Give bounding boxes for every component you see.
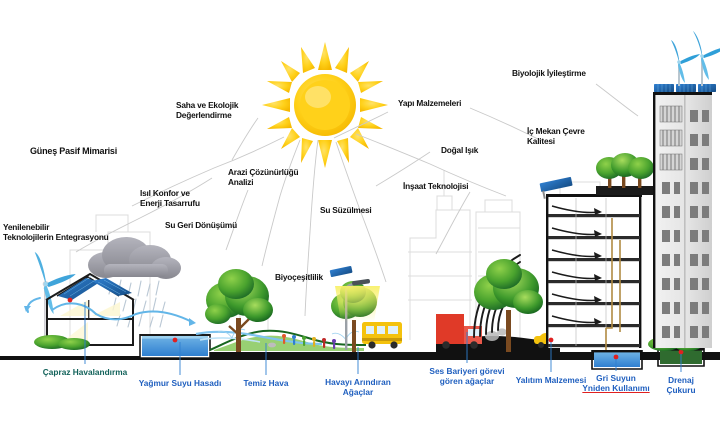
caption-yniden-kullanimi: Yniden Kullanımı	[582, 383, 649, 393]
label-insaat-teknolojisi: İnşaat Teknolojisi	[403, 181, 468, 191]
label-saha-ve-ekolojik: Saha ve Ekolojik Değerlendirme	[176, 100, 238, 121]
solar-panels-tower	[654, 84, 716, 92]
label-yapi-malzemeleri: Yapı Malzemeleri	[398, 98, 461, 108]
label-biyolojik-iyilestirme: Biyolojik İyileştirme	[512, 68, 586, 78]
caption-gri-suyun: Gri Suyun	[596, 373, 636, 383]
greywater-tank	[592, 350, 642, 369]
caption-capraz-havalandirma: Çapraz Havalandırma	[43, 367, 127, 377]
label-biyocesitlilik: Biyoçeşitlilik	[275, 272, 323, 282]
caption-havayi-arindiran: Havayı Arındıran Ağaçlar	[325, 377, 391, 398]
caption-drenaj-cukuru: Drenaj Çukuru	[662, 375, 701, 396]
label-isil-konfor: Isıl Konfor ve Enerji Tasarrufu	[140, 188, 200, 209]
tower-louvers	[660, 106, 682, 170]
label-yenilenebilir: Yenilenebilir Teknolojilerin Entegrasyon…	[3, 222, 109, 243]
infographic-canvas: Güneş Pasif Mimarisi Saha ve Ekolojik De…	[0, 0, 720, 427]
caption-temiz-hava: Temiz Hava	[243, 378, 288, 388]
label-gunes-pasif-mimarisi: Güneş Pasif Mimarisi	[30, 146, 117, 157]
caption-yagmur-suyu-hasadi: Yağmur Suyu Hasadı	[139, 378, 222, 388]
rainwater-basin	[140, 334, 210, 358]
caption-yalitim-malzemesi: Yalıtım Malzemesi	[516, 375, 587, 385]
caption-ses-bariyeri: Ses Bariyeri görevi gören ağaçlar	[429, 366, 504, 387]
label-su-geri-donusumu: Su Geri Dönüşümü	[165, 220, 237, 230]
label-su-suzulmesi: Su Süzülmesi	[320, 205, 372, 215]
label-arazi-cozunurlugu: Arazi Çözünürlüğü Analizi	[228, 167, 298, 188]
label-ic-mekan-cevre: İç Mekan Çevre Kalitesi	[527, 126, 585, 147]
label-dogal-isik: Doğal Işık	[441, 145, 478, 155]
